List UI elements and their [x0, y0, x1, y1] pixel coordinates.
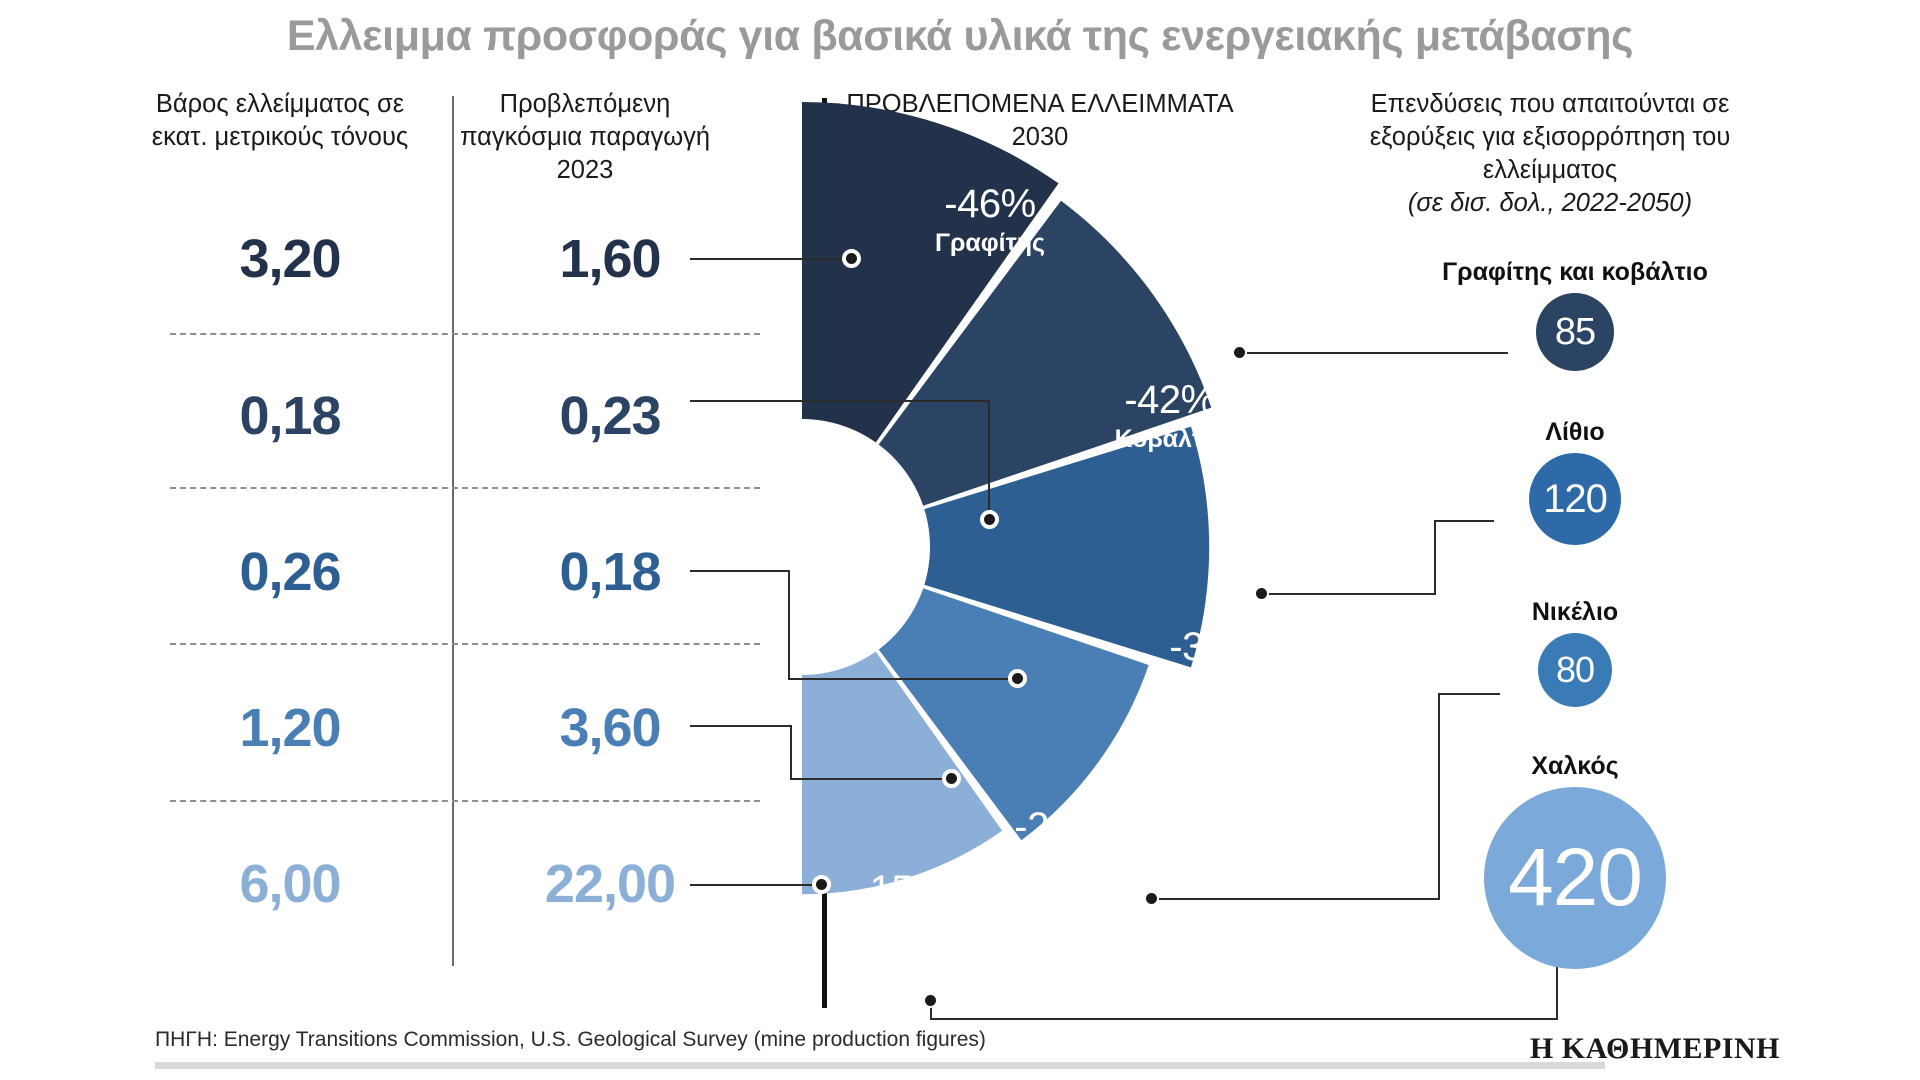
page-title: Ελλειμμα προσφοράς για βασικά υλικά της … [0, 12, 1920, 61]
row-divider [170, 487, 760, 489]
bubble-group-copper: Χαλκός 420 [1400, 752, 1750, 969]
footer-divider [155, 1062, 1605, 1069]
bubble-label-lithium: Λίθιο [1400, 418, 1750, 447]
leader-line-bubble-nickel-h1 [1150, 898, 1440, 900]
leader-dot-cobalt [980, 510, 999, 529]
bubble-group-nickel: Νικέλιο 80 [1400, 598, 1750, 707]
leader-line-nickel-h2 [790, 778, 950, 780]
leader-dot-bubble-lithium [1254, 586, 1269, 601]
column-header-deficit-weight: Βάρος ελλείμματος σε εκατ. μετρικούς τόν… [140, 88, 420, 154]
leader-line-lithium-v [788, 570, 790, 680]
infographic-root: Ελλειμμα προσφοράς για βασικά υλικά της … [0, 0, 1920, 1080]
row-divider [170, 800, 760, 802]
leader-line-graphite [690, 258, 852, 260]
row-divider [170, 643, 760, 645]
bubble-value-lithium: 120 [1529, 453, 1621, 545]
leader-line-lithium [690, 570, 790, 572]
leader-line-nickel-v [790, 725, 792, 780]
bubble-label-copper: Χαλκός [1400, 752, 1750, 781]
leader-line-cobalt [690, 400, 990, 402]
table-row: 1,20 [150, 697, 430, 759]
table-row: 0,18 [470, 541, 750, 603]
table-row: 6,00 [150, 853, 430, 915]
table-row: 0,26 [150, 541, 430, 603]
bubble-group-lithium: Λίθιο 120 [1400, 418, 1750, 545]
bubble-group-graphite-cobalt: Γραφίτης και κοβάλτιο 85 [1400, 258, 1750, 371]
leader-dot-lithium [1008, 669, 1027, 688]
leader-dot-copper [812, 875, 831, 894]
leader-line-cobalt-v [988, 400, 990, 518]
leader-line-bubble-lithium-h1 [1260, 593, 1436, 595]
bubble-label-nickel: Νικέλιο [1400, 598, 1750, 627]
leader-line-copper [690, 884, 820, 886]
table-row: 0,23 [470, 385, 750, 447]
leader-dot-bubble-graphite-cobalt [1232, 345, 1247, 360]
table-row: 3,60 [470, 697, 750, 759]
leader-dot-bubble-copper [923, 993, 938, 1008]
table-row: 3,20 [150, 228, 430, 290]
leader-line-bubble-copper-h [930, 1018, 1558, 1020]
column-header-production: Προβλεπόμενη παγκόσμια παραγωγή 2023 [450, 88, 720, 187]
leader-dot-bubble-nickel [1144, 891, 1159, 906]
bubble-value-nickel: 80 [1538, 633, 1612, 707]
bubble-value-graphite-cobalt: 85 [1536, 293, 1614, 371]
leader-dot-nickel [942, 769, 961, 788]
table-row: 0,18 [150, 385, 430, 447]
bubble-value-copper: 420 [1484, 787, 1666, 969]
source-note: ΠΗΓΗ: Energy Transitions Commission, U.S… [155, 1028, 986, 1052]
column-divider-left [452, 96, 454, 966]
row-divider [170, 333, 760, 335]
leader-dot-graphite [842, 249, 861, 268]
brand-logo: Η ΚΑΘΗΜΕΡΙΝΗ [1530, 1032, 1780, 1066]
leader-line-lithium-h2 [788, 678, 1016, 680]
leader-line-nickel [690, 725, 792, 727]
bubble-label-graphite-cobalt: Γραφίτης και κοβάλτιο [1400, 258, 1750, 287]
